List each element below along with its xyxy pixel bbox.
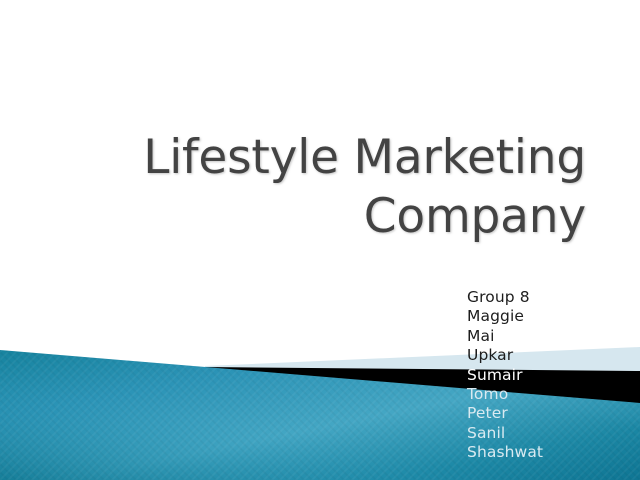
- list-item: Mai: [467, 327, 543, 346]
- slide-title-line-1: Lifestyle Marketing: [40, 128, 586, 187]
- list-item: Tomo: [467, 385, 543, 404]
- list-item: Shashwat: [467, 443, 543, 462]
- slide-title-line-2: Company: [40, 187, 586, 246]
- list-item: Group 8: [467, 288, 543, 307]
- list-item: Sanil: [467, 424, 543, 443]
- list-item: Sumair: [467, 366, 543, 385]
- presentation-slide: Lifestyle Marketing Company Group 8 Magg…: [0, 0, 640, 480]
- team-member-list: Group 8 Maggie Mai Upkar Sumair Tomo Pet…: [467, 288, 543, 463]
- list-item: Peter: [467, 404, 543, 423]
- list-item: Upkar: [467, 346, 543, 365]
- slide-title: Lifestyle Marketing Company: [40, 128, 586, 246]
- list-item: Maggie: [467, 307, 543, 326]
